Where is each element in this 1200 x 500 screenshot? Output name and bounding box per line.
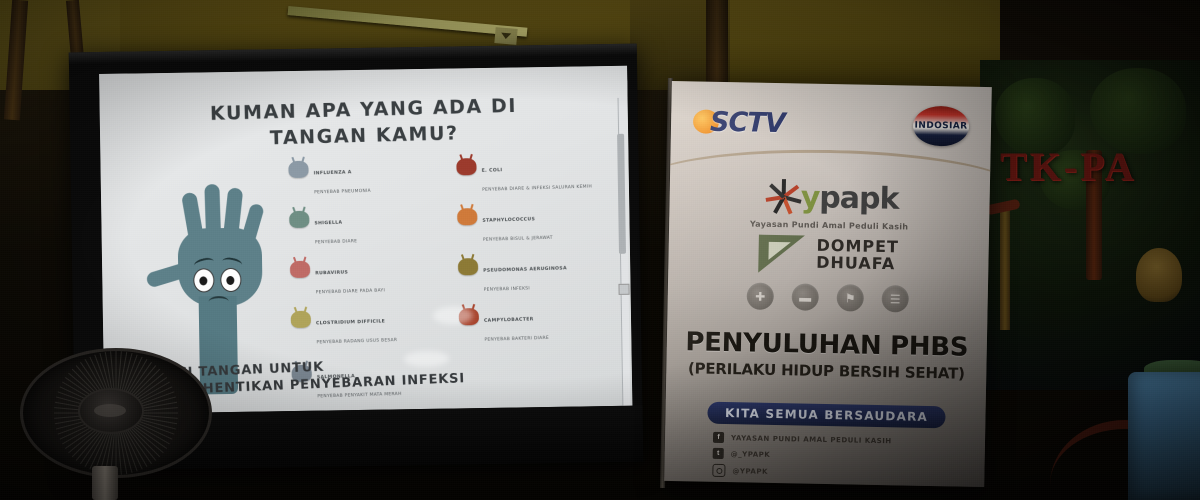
germ-entry: RUBAVIRUS PENYEBAB DIARE PADA BAYI (290, 255, 451, 298)
banner-subheading: (PERILAKU HIDUP BERSIH SEHAT) (666, 359, 986, 383)
germ-desc: PENYEBAB DIARE PADA BAYI (316, 288, 386, 295)
germ-entry: INFLUENZA A PENYEBAB PNEUMONIA (288, 155, 449, 198)
germ-desc: PENYEBAB DIARE & INFEKSI SALURAN KEMIH (482, 185, 592, 193)
germ-desc: PENYEBAB INFEKSI (484, 286, 530, 292)
twitter-icon: t (713, 448, 724, 459)
tablecloth (1128, 372, 1200, 500)
germ-icon (457, 208, 477, 226)
ypapk-tagline: Yayasan Pundi Amal Peduli Kasih (669, 218, 989, 233)
fan-neck (92, 466, 118, 500)
banner-slogan-text: KITA SEMUA BERSAUDARA (725, 406, 928, 424)
ypapk-logo: ypapk Yayasan Pundi Amal Peduli Kasih (669, 173, 990, 233)
pupil-left (199, 276, 207, 285)
dompet-dhuafa-logo: DOMPET DHUAFA (668, 233, 989, 277)
germ-desc: PENYEBAB BISUL & JERAWAT (483, 236, 553, 243)
eye-right (220, 268, 241, 292)
germ-desc: PENYEBAB BAKTERI DIARE (484, 336, 549, 343)
germ-desc: PENYEBAB RADANG USUS BESAR (316, 338, 397, 345)
health-cross-icon: ✚ (746, 282, 774, 310)
ypapk-wordmark: ypapk (800, 180, 898, 217)
germ-name: E. COLI (482, 168, 503, 174)
mural-tree-2 (1090, 68, 1186, 154)
germ-desc: PENYEBAB PNEUMONIA (314, 189, 371, 196)
banner-sponsor-logos: SCTV INDOSIAR (671, 97, 992, 151)
germ-desc: PENYEBAB DIARE (315, 239, 357, 245)
germ-icon (289, 211, 309, 229)
social-handle: @YPAPK (732, 467, 768, 476)
germ-icon (458, 258, 478, 276)
social-item: f YAYASAN PUNDI AMAL PEDULI KASIH (713, 432, 963, 448)
mural-figure (1136, 248, 1182, 302)
social-handle: YAYASAN PUNDI AMAL PEDULI KASIH (731, 434, 892, 445)
germ-icon (288, 161, 308, 179)
fan-hub (78, 388, 144, 434)
germ-entry: CLOSTRIDIUM DIFFICILE PENYEBAB RADANG US… (291, 305, 452, 348)
photo-scene: TK-PA phbs... × KUMAN APA YANG ADA DI TA… (0, 0, 1200, 500)
germ-entry: PSEUDOMONAS AERUGINOSA PENYEBAB INFEKSI (458, 253, 619, 296)
scrollbar-thumb[interactable] (617, 134, 626, 254)
germ-name: PSEUDOMONAS AERUGINOSA (483, 266, 567, 273)
book-icon: ▬ (791, 283, 819, 311)
germ-icon (291, 311, 311, 329)
sctv-label: SCTV (710, 106, 785, 138)
indosiar-label: INDOSIAR (914, 121, 967, 132)
germ-name: INFLUENZA A (314, 170, 352, 176)
dompet-line2: DHUAFA (816, 255, 899, 273)
social-item: t @_YPAPK (713, 448, 963, 464)
slide-title: KUMAN APA YANG ADA DI TANGAN KAMU? (99, 91, 628, 156)
people-icon: ☰ (881, 285, 909, 313)
banner-icon-row: ✚ ▬ ⚑ ☰ (668, 281, 988, 314)
mural-post (1000, 210, 1010, 330)
phbs-banner: SCTV INDOSIAR ypapk Yayasan Pundi Amal P… (664, 81, 992, 487)
electric-fan (20, 348, 210, 500)
flag-icon: ⚑ (836, 284, 864, 312)
germ-name: STAPHYLOCOCCUS (482, 217, 535, 224)
germ-name: RUBAVIRUS (315, 270, 348, 276)
germ-icon (290, 261, 310, 279)
mouth (209, 296, 229, 307)
germ-list: INFLUENZA A PENYEBAB PNEUMONIA SHIGELLA … (288, 154, 620, 319)
social-handle: @_YPAPK (731, 450, 771, 459)
scrollbar-marker[interactable] (618, 284, 629, 295)
germ-entry: CAMPYLOBACTER PENYEBAB BAKTERI DIARE (459, 303, 620, 346)
banner-heading: PENYULUHAN PHBS (667, 327, 988, 363)
mural-text: TK-PA (1000, 143, 1136, 190)
germ-name: SHIGELLA (314, 221, 342, 227)
dompet-dhuafa-mark-icon (758, 235, 805, 274)
germ-column-right: E. COLI PENYEBAB DIARE & INFEKSI SALURAN… (456, 154, 619, 356)
banner-slogan-pill: KITA SEMUA BERSAUDARA (707, 402, 945, 429)
banner-social-list: f YAYASAN PUNDI AMAL PEDULI KASIH t @_YP… (712, 432, 963, 487)
facebook-icon: f (713, 432, 724, 443)
ceiling-slat-end (494, 27, 517, 45)
instagram-icon (712, 464, 725, 477)
ypapk-word-papk: papk (819, 180, 899, 217)
pupil-right (226, 276, 234, 285)
germ-name: CLOSTRIDIUM DIFFICILE (316, 319, 385, 326)
sctv-logo: SCTV (693, 106, 785, 139)
germ-entry: STAPHYLOCOCCUS PENYEBAB BISUL & JERAWAT (457, 203, 618, 246)
star-burst-icon (760, 175, 807, 220)
germ-entry: E. COLI PENYEBAB DIARE & INFEKSI SALURAN… (456, 153, 617, 196)
germ-icon (456, 158, 476, 176)
indosiar-logo: INDOSIAR (913, 106, 970, 147)
germ-entry: SHIGELLA PENYEBAB DIARE (289, 205, 450, 248)
germ-name: CAMPYLOBACTER (484, 317, 534, 323)
social-item: @YPAPK (712, 464, 962, 482)
